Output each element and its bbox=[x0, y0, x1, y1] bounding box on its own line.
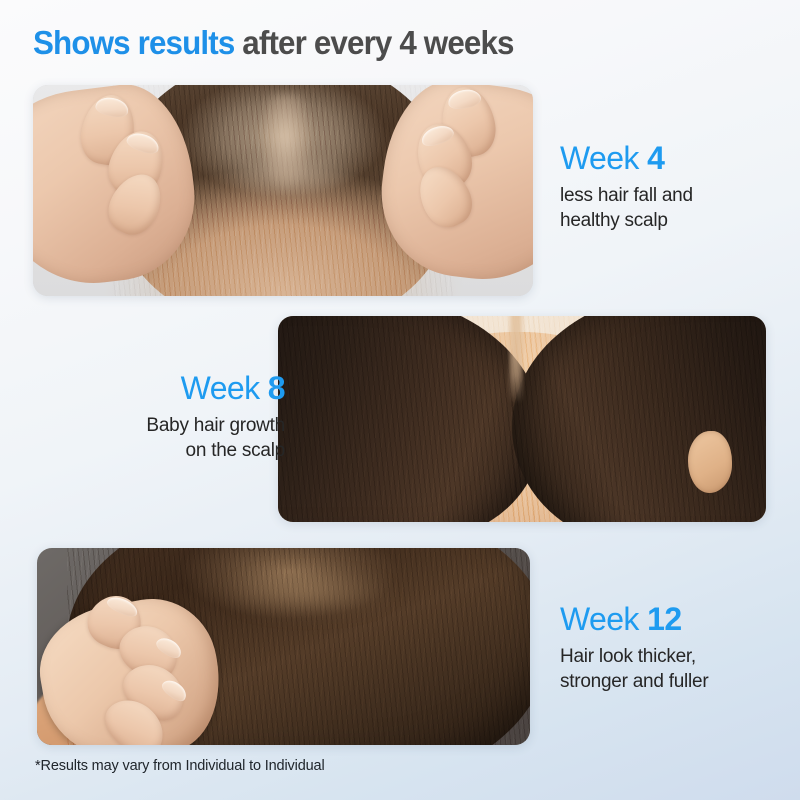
page-title: Shows results after every 4 weeks bbox=[33, 24, 514, 62]
hair-sheen bbox=[185, 556, 432, 631]
fingernail bbox=[95, 95, 130, 119]
photo-thick-hair-crown bbox=[37, 548, 530, 745]
step-title-week-12: Week 12 bbox=[560, 603, 708, 637]
hair-part-line bbox=[510, 316, 522, 403]
hair-left bbox=[278, 316, 542, 522]
disclaimer-note: *Results may vary from Individual to Ind… bbox=[35, 758, 325, 774]
fingernail bbox=[154, 634, 184, 661]
fingernail bbox=[125, 130, 161, 157]
step-title-week-8: Week 8 bbox=[80, 372, 285, 406]
photo-thinning-scalp bbox=[33, 85, 533, 296]
page-title-rest: after every 4 weeks bbox=[234, 24, 513, 61]
step-title-number: 8 bbox=[268, 370, 285, 406]
page-title-highlight: Shows results bbox=[33, 24, 234, 61]
ear bbox=[688, 431, 732, 493]
photo-forehead-center-part bbox=[278, 316, 766, 522]
step-text-week-8: Week 8 Baby hair growth on the scalp bbox=[80, 372, 285, 463]
step-description-week-8: Baby hair growth on the scalp bbox=[80, 413, 285, 463]
hair-right bbox=[512, 316, 766, 522]
step-text-week-12: Week 12 Hair look thicker, stronger and … bbox=[560, 603, 708, 694]
step-description-week-12: Hair look thicker, stronger and fuller bbox=[560, 644, 708, 694]
step-title-week-4: Week 4 bbox=[560, 142, 693, 176]
fingernail bbox=[447, 87, 482, 111]
step-title-word: Week bbox=[560, 601, 647, 637]
step-title-number: 12 bbox=[647, 601, 681, 637]
fingernail bbox=[419, 122, 455, 149]
step-title-word: Week bbox=[181, 370, 268, 406]
hair-texture bbox=[278, 316, 542, 522]
step-title-word: Week bbox=[560, 140, 647, 176]
result-photo-week-4 bbox=[33, 85, 533, 296]
step-title-number: 4 bbox=[647, 140, 664, 176]
fingernail bbox=[160, 676, 190, 704]
result-photo-week-8 bbox=[278, 316, 766, 522]
hair-part-line bbox=[253, 93, 318, 203]
step-description-week-4: less hair fall and healthy scalp bbox=[560, 183, 693, 233]
infographic-page: Shows results after every 4 weeks bbox=[0, 0, 800, 800]
hair-texture bbox=[512, 316, 766, 522]
result-photo-week-12 bbox=[37, 548, 530, 745]
step-text-week-4: Week 4 less hair fall and healthy scalp bbox=[560, 142, 693, 233]
